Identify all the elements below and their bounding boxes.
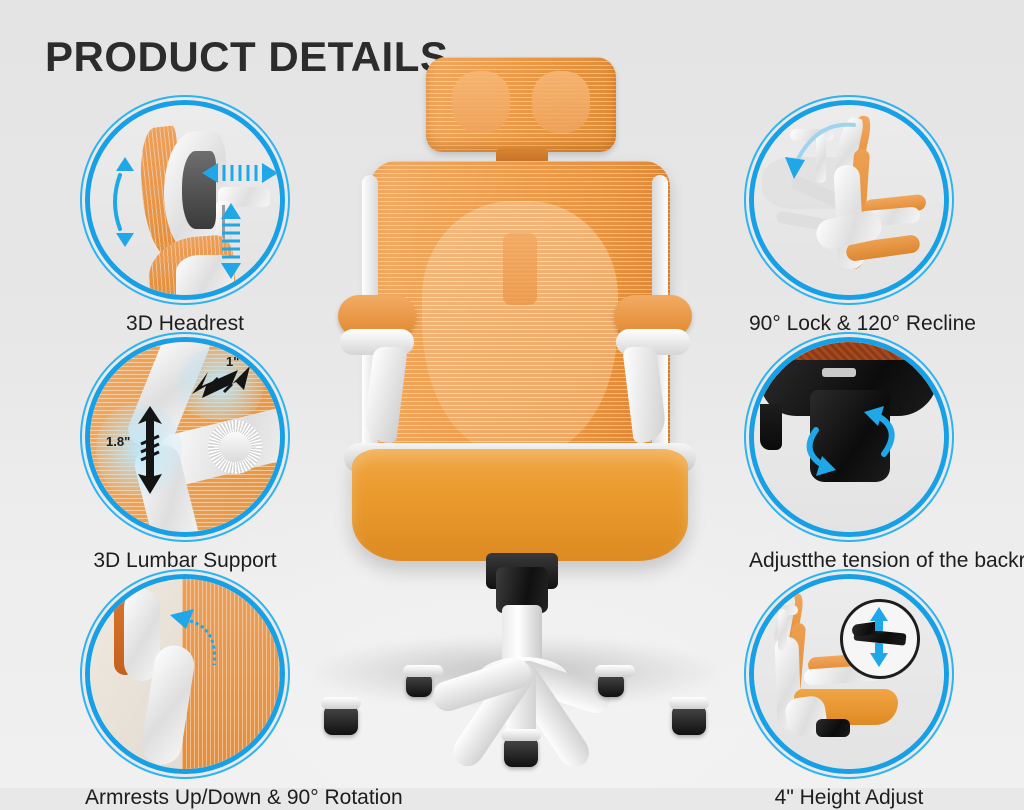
chair-caster [504,737,538,767]
chair-caster [672,705,706,735]
recline-arc-arrow-icon [782,117,860,183]
callout-ring [749,100,949,300]
callout-ring [85,100,285,300]
callout-armrests[interactable]: Armrests Up/Down & 90° Rotation [85,574,403,810]
headrest-adjust-icon [90,105,280,295]
callout-label: 3D Headrest [85,312,285,336]
callout-recline[interactable]: 90° Lock & 120° Recline [749,100,976,336]
chair-caster [598,673,624,697]
callout-label: 3D Lumbar Support [85,549,285,573]
recline-lock-icon [754,105,944,295]
armrest-rotation-icon [90,579,280,769]
callout-ring [749,337,949,537]
callout-ring [85,574,285,774]
chair-armrest-right [602,295,722,425]
dimension-label-1in: 1" [226,354,239,369]
tension-knob-icon [754,342,944,532]
callout-label: 90° Lock & 120° Recline [749,312,976,336]
height-adjust-icon [754,579,944,769]
callout-label: Adjustthe tension of the backrest [749,549,1024,573]
tilt-arrow-icon [108,155,142,249]
rotation-arrows-icon [790,394,910,486]
vertical-arrow-icon [868,605,890,669]
callout-lumbar-support[interactable]: 1" 1.8" 3D Lumbar Support [85,337,285,573]
rotation-arrow-icon [166,603,236,673]
callout-ring: 1" 1.8" [85,337,285,537]
dimension-label-1-8in: 1.8" [106,434,130,449]
chair-seat [352,449,688,561]
chair-caster [406,673,432,697]
callout-label: Armrests Up/Down & 90° Rotation [85,786,403,810]
product-details-infographic: PRODUCT DETAILS [0,0,1024,788]
callout-height-adjust[interactable]: 4" Height Adjust [749,574,949,810]
callout-headrest[interactable]: 3D Headrest [85,100,285,336]
callout-tension[interactable]: Adjustthe tension of the backrest [749,337,1024,573]
chair-lumbar-notch [503,233,537,305]
vertical-arrow-icon [218,201,244,281]
callout-label: 4" Height Adjust [749,786,949,810]
dimension-arrow-icon [130,404,172,496]
chair-armrest-left [308,295,428,425]
lumbar-support-icon: 1" 1.8" [90,342,280,532]
chair-headrest [426,57,616,152]
dimension-arrow-icon [186,360,256,404]
callout-ring [749,574,949,774]
horizontal-arrow-icon [200,160,280,186]
